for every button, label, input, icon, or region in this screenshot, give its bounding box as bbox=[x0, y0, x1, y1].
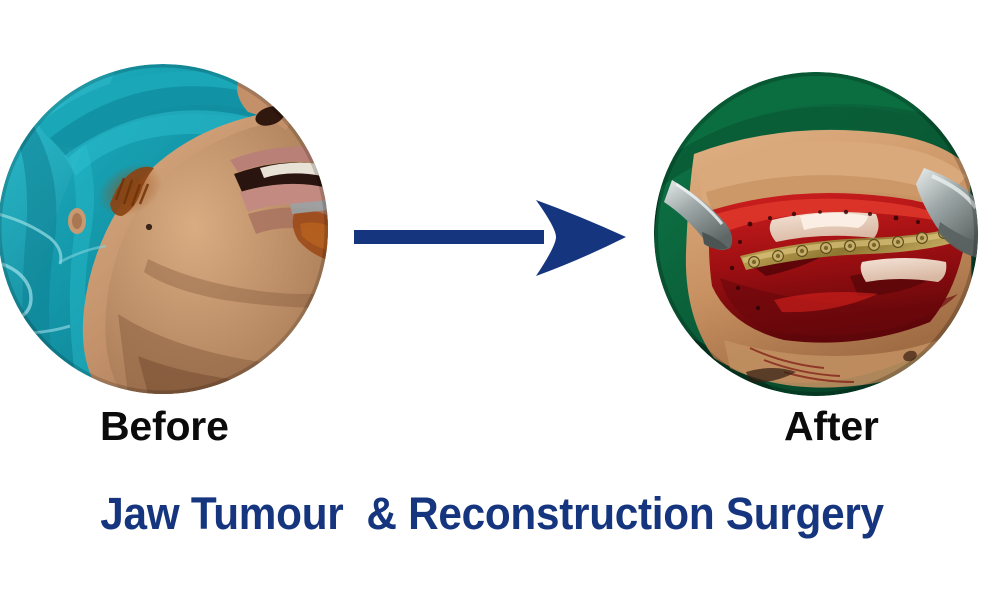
before-photo bbox=[0, 64, 328, 394]
right-arrow-icon bbox=[350, 190, 635, 288]
comparison-graphic: Before After Jaw Tumour & Reconstruction… bbox=[0, 0, 984, 615]
after-photo bbox=[654, 72, 978, 396]
page-title: Jaw Tumour & Reconstruction Surgery bbox=[30, 490, 955, 537]
after-photo-illustration bbox=[654, 72, 978, 396]
before-photo-illustration bbox=[0, 64, 328, 394]
after-label: After bbox=[784, 406, 879, 447]
before-label: Before bbox=[100, 406, 229, 447]
